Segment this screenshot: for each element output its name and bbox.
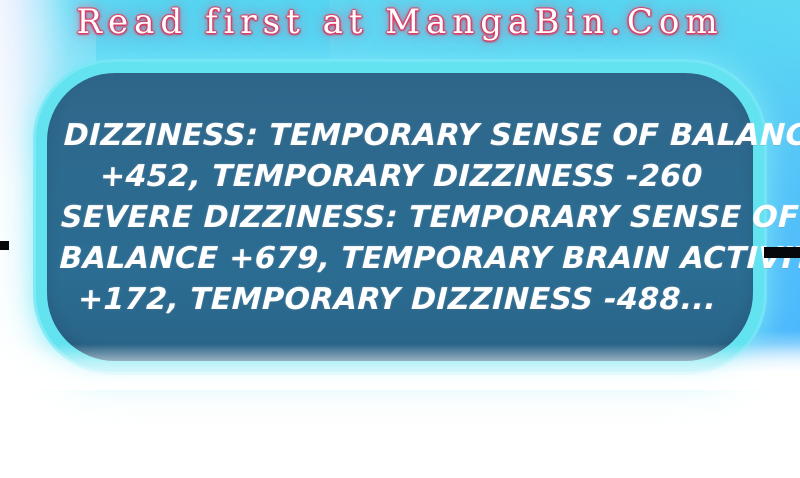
watermark-text: Read first at MangaBin.Com	[0, 2, 800, 42]
bubble-line-3: SEVERE DIZZINESS: TEMPORARY SENSE OF	[60, 197, 739, 238]
bubble-line-1: DIZZINESS: TEMPORARY SENSE OF BALANCE	[63, 115, 742, 156]
right-edge-mark	[764, 247, 800, 258]
speech-bubble-text: DIZZINESS: TEMPORARY SENSE OF BALANCE +4…	[43, 115, 756, 320]
panel-bottom-fade	[0, 300, 800, 390]
bubble-line-4: BALANCE +679, TEMPORARY BRAIN ACTIVITY	[59, 238, 738, 279]
bubble-line-2: +452, TEMPORARY DIZZINESS -260	[62, 156, 741, 197]
manga-page: DIZZINESS: TEMPORARY SENSE OF BALANCE +4…	[0, 0, 800, 478]
left-edge-mark	[0, 241, 9, 250]
